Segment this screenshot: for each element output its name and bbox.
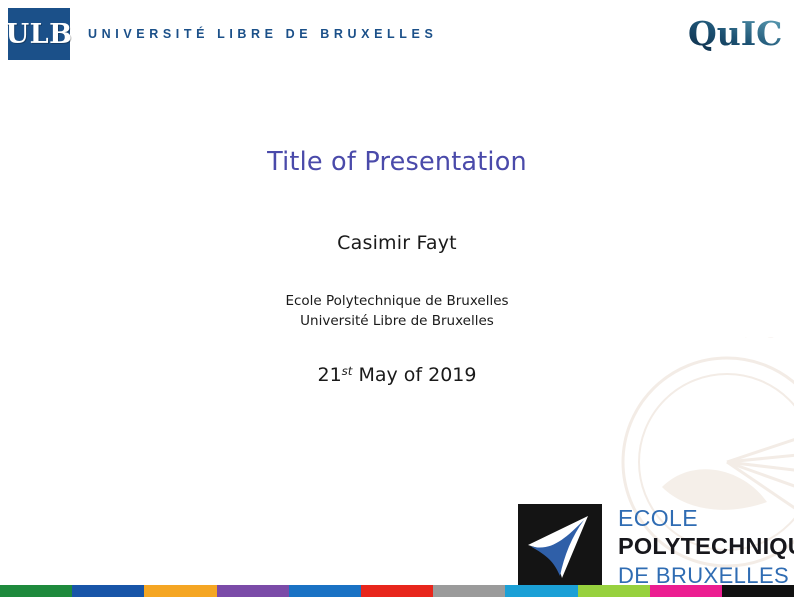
date-ordinal-suffix: st xyxy=(342,364,353,378)
color-bar-segment-azure xyxy=(289,585,361,597)
epb-arrow-icon xyxy=(518,504,602,588)
ulb-logo: ULB UNIVERSITÉ LIBRE DE BRUXELLES xyxy=(8,8,437,60)
date-day: 21 xyxy=(317,365,341,387)
title-block: Title of Presentation Casimir Fayt Ecole… xyxy=(0,148,794,387)
color-bar-segment-black xyxy=(722,585,794,597)
ulb-logo-mark: ULB xyxy=(8,8,70,60)
affiliation-line-2: Université Libre de Bruxelles xyxy=(0,312,794,332)
date-rest: May of 2019 xyxy=(352,365,476,387)
color-bar-segment-orange xyxy=(144,585,216,597)
epb-line-de-bruxelles: DE BRUXELLES xyxy=(618,565,794,587)
color-bar-segment-magenta xyxy=(650,585,722,597)
author-name: Casimir Fayt xyxy=(0,232,794,254)
color-bar-segment-cyan xyxy=(505,585,577,597)
footer-color-bar xyxy=(0,585,794,597)
color-bar-segment-purple xyxy=(217,585,289,597)
presentation-title: Title of Presentation xyxy=(0,148,794,177)
svg-text:QuIC: QuIC xyxy=(688,14,782,53)
epb-logo-mark xyxy=(518,504,602,588)
epb-logo-text: ECOLE POLYTECHNIQUE DE BRUXELLES xyxy=(618,507,794,587)
quic-logo: QuIC xyxy=(686,12,782,56)
color-bar-segment-green xyxy=(0,585,72,597)
ulb-wordmark: UNIVERSITÉ LIBRE DE BRUXELLES xyxy=(88,27,437,41)
quic-logo-icon: QuIC xyxy=(686,12,782,56)
ecole-polytechnique-logo: ECOLE POLYTECHNIQUE DE BRUXELLES xyxy=(518,504,794,588)
color-bar-segment-gray xyxy=(433,585,505,597)
color-bar-segment-red xyxy=(361,585,433,597)
color-bar-segment-blue xyxy=(72,585,144,597)
epb-line-polytechnique: POLYTECHNIQUE xyxy=(618,535,794,559)
presentation-slide: ULB UNIVERSITÉ LIBRE DE BRUXELLES QuIC D… xyxy=(0,0,794,597)
presentation-date: 21st May of 2019 xyxy=(0,364,794,386)
affiliation-line-1: Ecole Polytechnique de Bruxelles xyxy=(0,292,794,312)
epb-line-ecole: ECOLE xyxy=(618,507,794,530)
ulb-logo-mark-text: ULB xyxy=(6,21,73,48)
color-bar-segment-light-green xyxy=(578,585,650,597)
affiliation-block: Ecole Polytechnique de Bruxelles Univers… xyxy=(0,292,794,331)
